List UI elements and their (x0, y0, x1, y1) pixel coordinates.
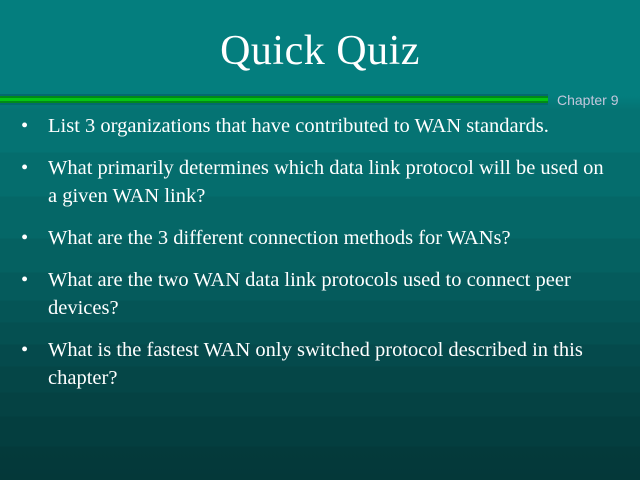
divider-band-bottom (0, 103, 548, 105)
title-divider-rule (0, 94, 548, 105)
bullet-point-icon: • (21, 112, 31, 140)
bullet-point-icon: • (21, 154, 31, 182)
list-item: • What are the two WAN data link protoco… (0, 266, 640, 322)
list-item-label: What is the fastest WAN only switched pr… (48, 336, 616, 392)
bullet-point-icon: • (21, 224, 31, 252)
list-item-label: What are the two WAN data link protocols… (48, 266, 616, 322)
list-item: • What is the fastest WAN only switched … (0, 336, 640, 392)
bullet-point-icon: • (21, 336, 31, 364)
slide-title-block: Quick Quiz (0, 26, 640, 76)
slide-title: Quick Quiz (220, 26, 420, 76)
list-item-label: What primarily determines which data lin… (48, 154, 616, 210)
chapter-label: Chapter 9 (557, 91, 618, 109)
list-item: • What are the 3 different connection me… (0, 224, 640, 252)
list-item: • List 3 organizations that have contrib… (0, 112, 640, 140)
list-item: • What primarily determines which data l… (0, 154, 640, 210)
list-item-label: What are the 3 different connection meth… (48, 224, 616, 252)
list-item-label: List 3 organizations that have contribut… (48, 112, 616, 140)
bullet-point-icon: • (21, 266, 31, 294)
bullet-list: • List 3 organizations that have contrib… (0, 112, 640, 406)
presentation-slide: Quick Quiz Chapter 9 • List 3 organizati… (0, 0, 640, 480)
